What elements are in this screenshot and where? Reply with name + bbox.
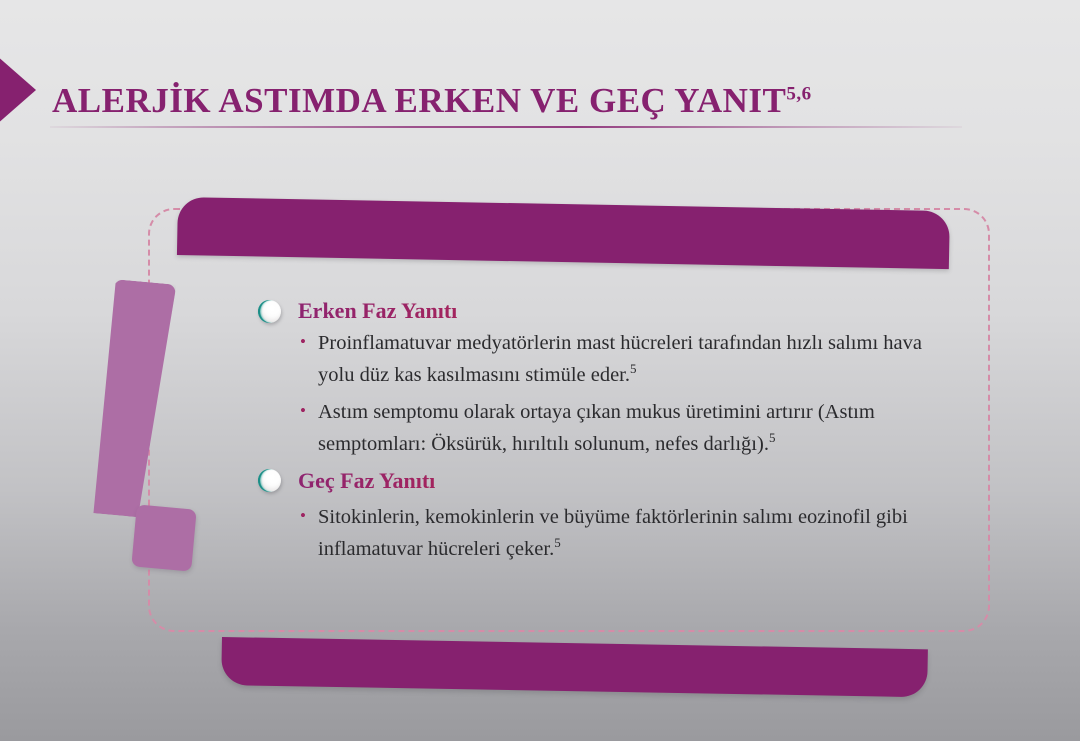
- list-item: Sitokinlerin, kemokinlerin ve büyüme fak…: [298, 504, 958, 562]
- list-item-text: Sitokinlerin, kemokinlerin ve büyüme fak…: [318, 506, 908, 560]
- title-divider: [50, 126, 962, 128]
- list-item-superscript: 5: [630, 361, 637, 376]
- page-title-superscript: 5,6: [786, 84, 811, 105]
- purple-banner-bottom: [221, 637, 928, 697]
- list-item-superscript: 5: [769, 430, 776, 445]
- list-item-text: Astım semptomu olarak ortaya çıkan mukus…: [318, 401, 875, 455]
- section-heading-erken-faz: Erken Faz Yanıtı: [298, 298, 457, 324]
- section-erken-faz: Erken Faz Yanıtı Proinflamatuvar medyatö…: [258, 298, 958, 457]
- section-gec-faz: Geç Faz Yanıtı Sitokinlerin, kemokinleri…: [258, 468, 958, 562]
- content-body: Erken Faz Yanıtı Proinflamatuvar medyatö…: [258, 298, 958, 572]
- pearl-bullet-icon: [258, 300, 281, 323]
- list-item-superscript: 5: [554, 535, 561, 550]
- exclamation-mark-dot-icon: [131, 504, 196, 571]
- slide-root: ALERJİK ASTIMDA ERKEN VE GEÇ YANIT5,6 Er…: [0, 0, 1080, 741]
- section-heading-row-erken-faz: Erken Faz Yanıtı: [258, 298, 958, 324]
- list-item: Astım semptomu olarak ortaya çıkan mukus…: [298, 399, 958, 457]
- bullet-list-erken-faz: Proinflamatuvar medyatörlerin mast hücre…: [258, 330, 958, 457]
- page-title: ALERJİK ASTIMDA ERKEN VE GEÇ YANIT5,6: [52, 81, 812, 121]
- section-heading-row-gec-faz: Geç Faz Yanıtı: [258, 468, 958, 494]
- bullet-list-gec-faz: Sitokinlerin, kemokinlerin ve büyüme fak…: [258, 504, 958, 562]
- list-item-text: Proinflamatuvar medyatörlerin mast hücre…: [318, 332, 922, 386]
- list-item: Proinflamatuvar medyatörlerin mast hücre…: [298, 330, 958, 388]
- section-heading-gec-faz: Geç Faz Yanıtı: [298, 468, 435, 494]
- title-arrow-icon: [0, 55, 36, 125]
- pearl-bullet-icon: [258, 469, 281, 492]
- page-title-text: ALERJİK ASTIMDA ERKEN VE GEÇ YANIT: [52, 81, 786, 120]
